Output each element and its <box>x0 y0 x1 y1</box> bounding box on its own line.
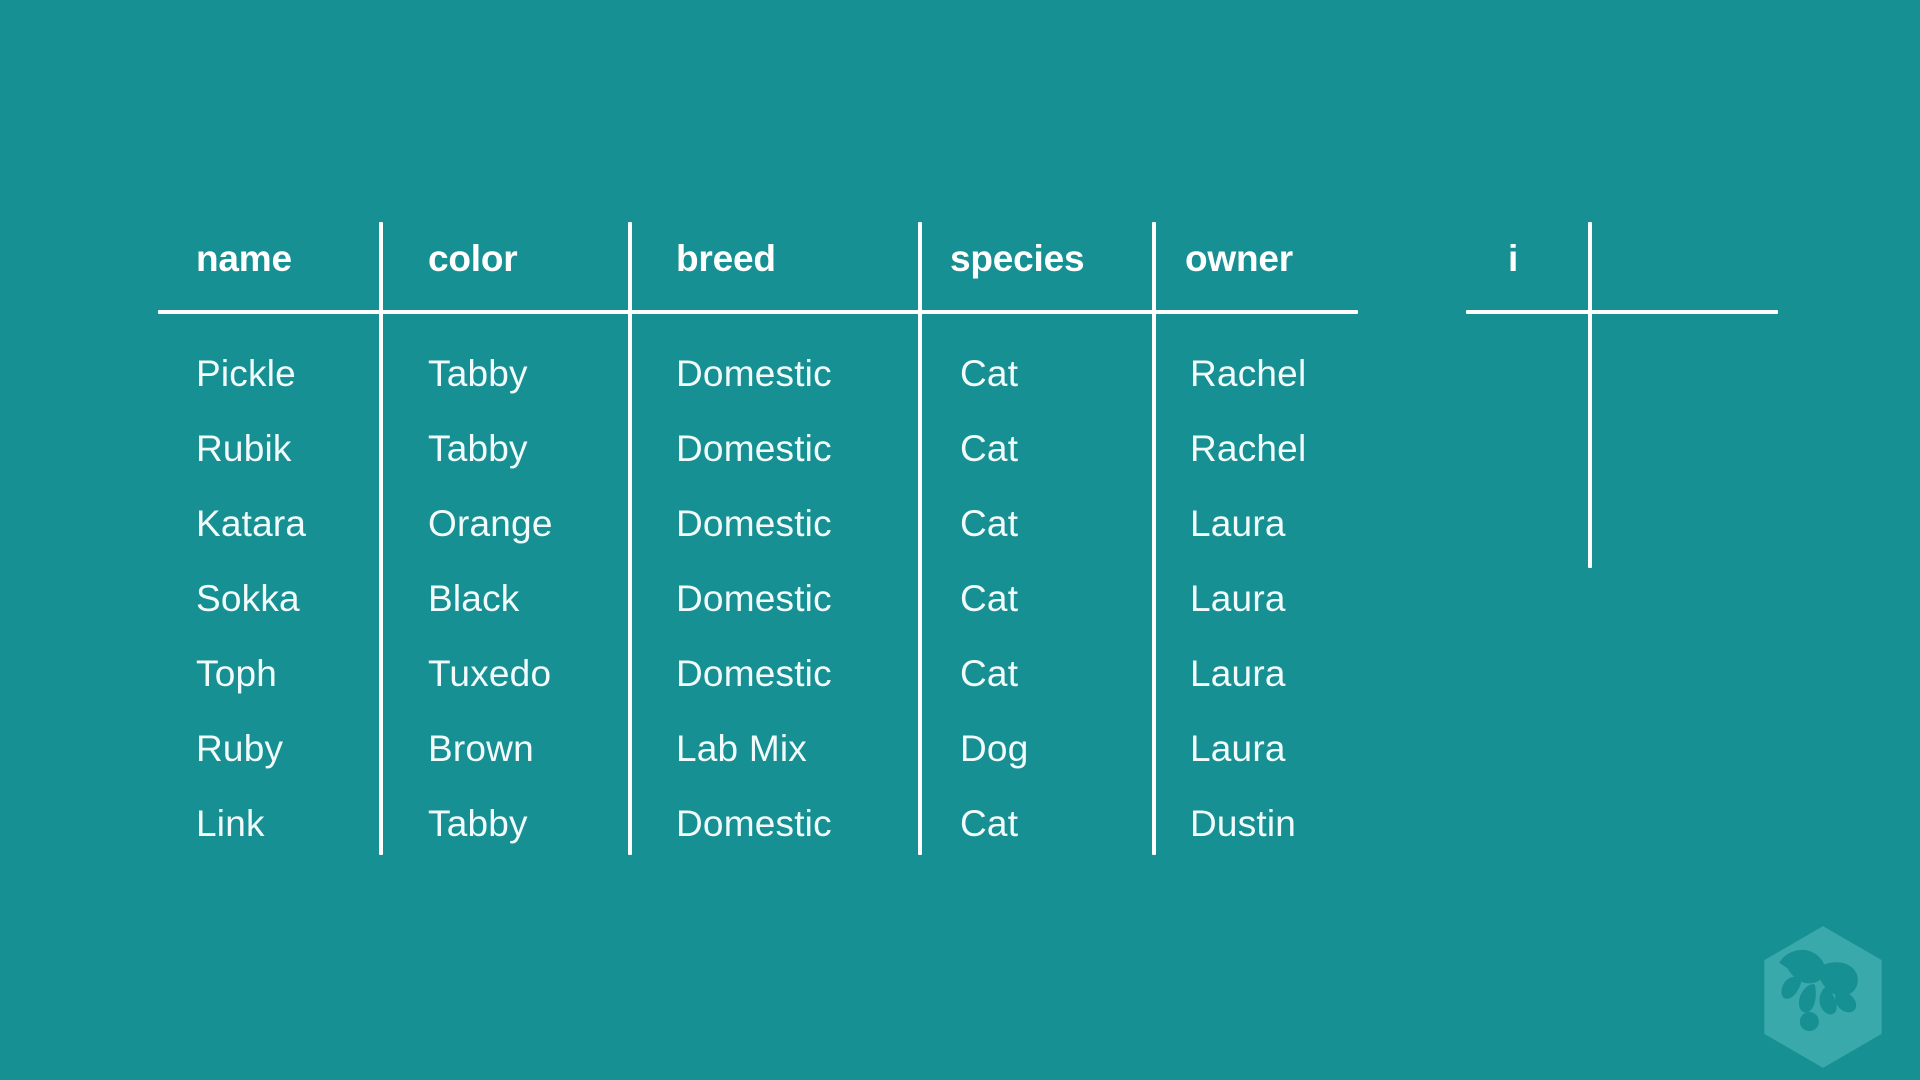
column-divider-4 <box>1152 222 1156 855</box>
table-cell-name: Katara <box>196 505 306 542</box>
table-cell-color: Brown <box>428 730 534 767</box>
table-cell-color: Tabby <box>428 805 528 842</box>
column-divider-1 <box>379 222 383 855</box>
table-cell-name: Toph <box>196 655 277 692</box>
column-header-color[interactable]: color <box>428 240 517 277</box>
table-cell-name: Pickle <box>196 355 296 392</box>
table-cell-breed: Domestic <box>676 430 832 467</box>
table-cell-name: Sokka <box>196 580 300 617</box>
column-header-owner[interactable]: owner <box>1185 240 1293 277</box>
table-cell-color: Tabby <box>428 430 528 467</box>
table-cell-owner: Laura <box>1190 505 1286 542</box>
column-header-i[interactable]: i <box>1508 240 1518 277</box>
table-cell-name: Ruby <box>196 730 283 767</box>
column-header-name[interactable]: name <box>196 240 292 277</box>
table-cell-name: Link <box>196 805 265 842</box>
table-cell-species: Cat <box>960 655 1018 692</box>
table-cell-color: Tuxedo <box>428 655 551 692</box>
header-rule-right <box>1466 310 1778 314</box>
column-header-breed[interactable]: breed <box>676 240 776 277</box>
column-divider-3 <box>918 222 922 855</box>
column-divider-2 <box>628 222 632 855</box>
table-cell-owner: Rachel <box>1190 355 1306 392</box>
table-cell-breed: Domestic <box>676 580 832 617</box>
table-cell-species: Cat <box>960 430 1018 467</box>
table-cell-name: Rubik <box>196 430 292 467</box>
column-header-species[interactable]: species <box>950 240 1084 277</box>
table-cell-breed: Domestic <box>676 355 832 392</box>
table-cell-owner: Rachel <box>1190 430 1306 467</box>
table-cell-owner: Laura <box>1190 580 1286 617</box>
header-rule-left <box>158 310 1358 314</box>
table-cell-species: Cat <box>960 580 1018 617</box>
table-cell-species: Dog <box>960 730 1028 767</box>
table-cell-species: Cat <box>960 505 1018 542</box>
table-cell-breed: Domestic <box>676 655 832 692</box>
table-cell-species: Cat <box>960 805 1018 842</box>
table-cell-breed: Domestic <box>676 505 832 542</box>
table-cell-owner: Laura <box>1190 655 1286 692</box>
pets-table: name color breed species owner i Pickle … <box>0 0 1920 1080</box>
table-cell-color: Tabby <box>428 355 528 392</box>
table-cell-owner: Dustin <box>1190 805 1296 842</box>
table-cell-breed: Domestic <box>676 805 832 842</box>
table-cell-owner: Laura <box>1190 730 1286 767</box>
screen-root: name color breed species owner i Pickle … <box>0 0 1920 1080</box>
table-cell-breed: Lab Mix <box>676 730 807 767</box>
column-divider-5 <box>1588 222 1592 568</box>
table-cell-color: Orange <box>428 505 553 542</box>
table-cell-species: Cat <box>960 355 1018 392</box>
table-cell-color: Black <box>428 580 519 617</box>
